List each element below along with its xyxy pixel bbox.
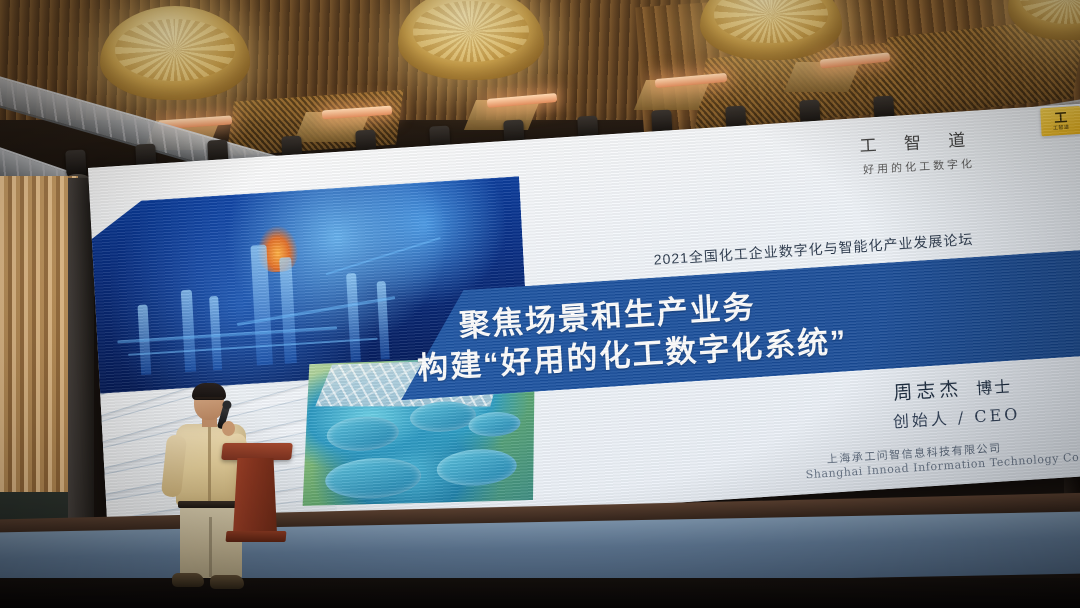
logo-mark: 工: [1054, 111, 1068, 125]
speaker-degree: 博士: [976, 379, 1013, 398]
company-logo-icon: 工 工智道: [1040, 106, 1080, 137]
chandelier-icon: [700, 0, 842, 60]
presenter-shoe: [172, 573, 204, 587]
wall-wood-panel-left: [0, 176, 78, 506]
presenter-hand: [222, 421, 235, 436]
chandelier-icon: [398, 0, 544, 80]
conference-stage-photo: 工 智 道 好用的化工数字化 工 工智道 2021全国化工企业数字化与智能化产业…: [0, 0, 1080, 608]
speaker-name: 周志杰: [893, 379, 963, 404]
presenter-shoe: [210, 575, 244, 589]
glasses-icon: [195, 397, 223, 404]
podium-lectern: [222, 443, 292, 543]
logo-subtext: 工智道: [1053, 125, 1070, 131]
